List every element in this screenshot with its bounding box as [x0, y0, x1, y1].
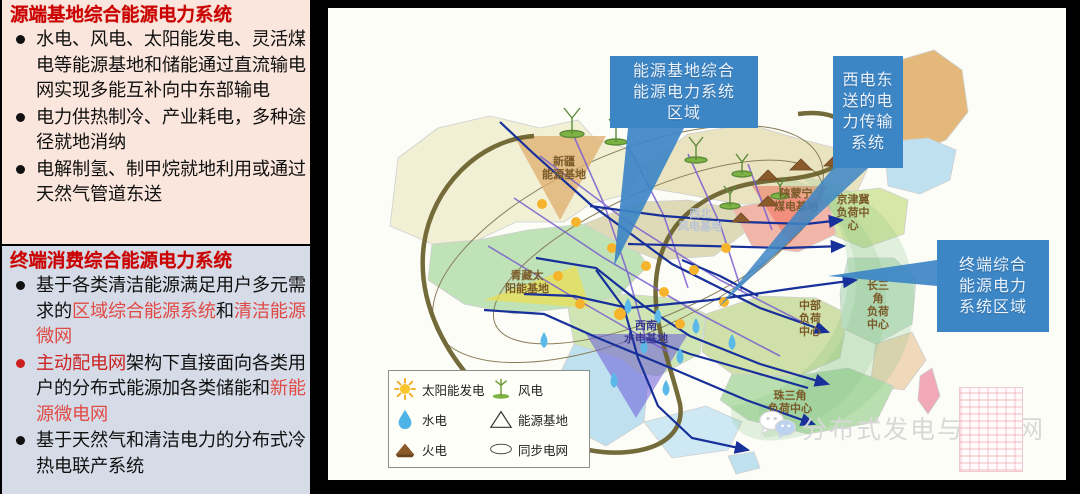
bullet-text-highlight: 主动配电网: [36, 353, 126, 373]
bullet-dot-icon: [16, 281, 25, 290]
bullet-dot-icon: [16, 113, 25, 122]
list-item: 基于天然气和清洁电力的分布式冷热电联产系统: [10, 428, 306, 479]
legend-label: 太阳能发电: [422, 380, 485, 399]
legend-item-hydro: 水电: [393, 407, 489, 431]
map-panel: 新疆 能源基地 青藏太 阳能基地 西北 风电基地 陕蒙宁 煤电基地 西南 水电基…: [314, 0, 1080, 494]
legend-item-energy-base: 能源基地: [489, 407, 585, 431]
bullet-text: 电解制氢、制甲烷就地利用或通过天然气管道东送: [36, 159, 306, 205]
callout-line: 力传输: [842, 112, 893, 133]
callout-west-east-transmission[interactable]: 西电东 送的电 力传输 系统: [833, 56, 903, 168]
legend-item-thermal: 火电: [393, 437, 489, 461]
callout-line: 能源电力: [959, 276, 1027, 297]
source-block-bullet-list: 水电、风电、太阳能发电、灵活煤电等能源基地和储能通过直流输电网实现多能互补向中东…: [6, 27, 306, 208]
left-text-panel: 源端基地综合能源电力系统 水电、风电、太阳能发电、灵活煤电等能源基地和储能通过直…: [0, 0, 314, 494]
callout-terminal-region[interactable]: 终端综合 能源电力 系统区域: [937, 240, 1049, 332]
source-block-title: 源端基地综合能源电力系统: [10, 4, 306, 26]
callout-energy-base-region[interactable]: 能源基地综合 能源电力系统 区域: [610, 56, 758, 128]
ellipse-icon: [489, 437, 513, 461]
bullet-dot-icon: [16, 35, 25, 44]
water-drop-icon: [393, 407, 417, 431]
bullet-text-highlight: 区域综合能源系统: [72, 301, 216, 321]
terminal-block-bullet-list: 基于各类清洁能源满足用户多元需求的区域综合能源系统和清洁能源微网 主动配电网架构…: [6, 273, 306, 479]
wechat-icon: [758, 408, 798, 447]
list-item: 电解制氢、制甲烷就地利用或通过天然气管道东送: [10, 157, 306, 208]
qr-code-watermark: [959, 387, 1023, 472]
terminal-block-title: 终端消费综合能源电力系统: [10, 250, 306, 272]
list-item: 主动配电网架构下直接面向各类用户的分布式能源加各类储能和新能源微电网: [10, 351, 306, 428]
callout-line: 系统区域: [959, 297, 1027, 318]
terminal-consumption-block: 终端消费综合能源电力系统 基于各类清洁能源满足用户多元需求的区域综合能源系统和清…: [2, 246, 310, 494]
list-item: 电力供热制冷、产业耗电，多种途径就地消纳: [10, 105, 306, 156]
bullet-dot-icon: [16, 436, 25, 445]
callout-line: 西电东: [842, 70, 893, 91]
callout-line: 能源电力系统: [633, 82, 735, 103]
coal-pile-icon: [393, 437, 417, 461]
bullet-text-plain: 和: [216, 301, 234, 321]
sun-icon: [393, 377, 417, 401]
legend-label: 同步电网: [518, 440, 568, 459]
list-item: 水电、风电、太阳能发电、灵活煤电等能源基地和储能通过直流输电网实现多能互补向中东…: [10, 27, 306, 104]
legend-label: 能源基地: [518, 410, 568, 429]
callout-line: 区域: [667, 103, 701, 124]
callout-line: 送的电: [842, 91, 893, 112]
legend-item-solar: 太阳能发电: [393, 377, 489, 401]
callout-line: 能源基地综合: [633, 61, 735, 82]
slide-root: 源端基地综合能源电力系统 水电、风电、太阳能发电、灵活煤电等能源基地和储能通过直…: [0, 0, 1080, 494]
map-legend: 太阳能发电 风电: [388, 370, 590, 468]
bullet-text: 电力供热制冷、产业耗电，多种途径就地消纳: [36, 107, 306, 153]
callout-line: 系统: [851, 133, 885, 154]
wind-turbine-icon: [489, 377, 513, 401]
list-item: 基于各类清洁能源满足用户多元需求的区域综合能源系统和清洁能源微网: [10, 273, 306, 350]
legend-label: 风电: [518, 380, 543, 399]
legend-item-wind: 风电: [489, 377, 585, 401]
callout-line: 终端综合: [959, 255, 1027, 276]
bullet-text: 基于天然气和清洁电力的分布式冷热电联产系统: [36, 430, 306, 476]
legend-item-sync-grid: 同步电网: [489, 437, 585, 461]
bullet-text: 水电、风电、太阳能发电、灵活煤电等能源基地和储能通过直流输电网实现多能互补向中东…: [36, 29, 306, 100]
legend-label: 火电: [422, 440, 447, 459]
bullet-dot-icon: [16, 165, 25, 174]
legend-label: 水电: [422, 410, 447, 429]
bullet-dot-icon: [16, 359, 25, 368]
china-energy-map: 新疆 能源基地 青藏太 阳能基地 西北 风电基地 陕蒙宁 煤电基地 西南 水电基…: [328, 8, 1066, 480]
source-base-block: 源端基地综合能源电力系统 水电、风电、太阳能发电、灵活煤电等能源基地和储能通过直…: [2, 0, 310, 244]
triangle-icon: [489, 407, 513, 431]
